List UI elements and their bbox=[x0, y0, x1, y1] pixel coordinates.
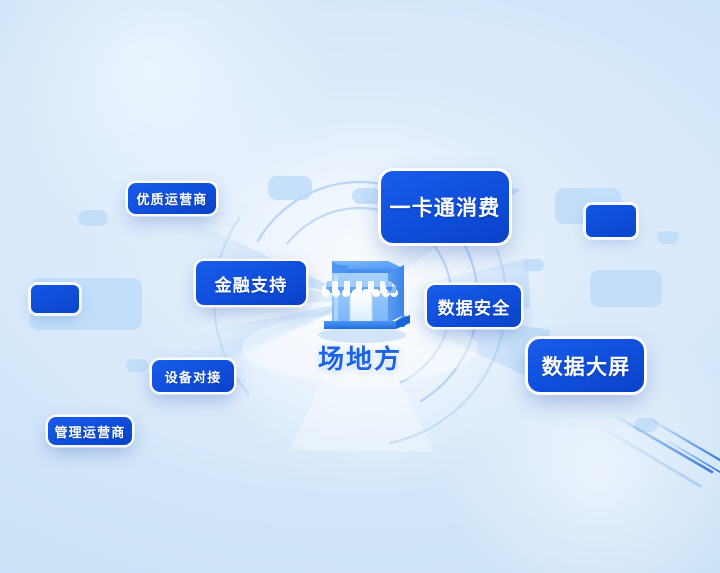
decorative-rect-soft-4 bbox=[555, 188, 621, 224]
decorative-rect-soft-2 bbox=[268, 176, 312, 200]
card-jinrong-zhichi[interactable]: 金融支持 bbox=[196, 261, 306, 305]
card-shuju-anquan[interactable]: 数据安全 bbox=[427, 285, 521, 327]
card-label: 优质运营商 bbox=[136, 189, 207, 208]
center-label: 场地方 bbox=[292, 339, 428, 376]
center-node[interactable]: 场地方 bbox=[292, 243, 428, 383]
card-label: 设备对接 bbox=[165, 367, 222, 386]
card-shebei-duijie[interactable]: 设备对接 bbox=[152, 360, 234, 392]
card-youzhi-yunyingshang[interactable]: 优质运营商 bbox=[128, 183, 216, 214]
decorative-rect-soft-10 bbox=[634, 418, 658, 432]
decorative-rect-soft-5 bbox=[657, 231, 679, 244]
card-shuju-daping[interactable]: 数据大屏 bbox=[528, 339, 644, 392]
card-label: 管理运营商 bbox=[54, 422, 125, 441]
decorative-rect-solid-0 bbox=[31, 285, 79, 313]
card-label: 数据大屏 bbox=[542, 351, 631, 381]
card-yikatong-xiaofei[interactable]: 一卡通消费 bbox=[381, 171, 509, 243]
decorative-rect-soft-1 bbox=[78, 210, 108, 226]
decorative-rect-soft-3 bbox=[352, 188, 382, 204]
decorative-rect-soft-7 bbox=[590, 270, 662, 307]
card-label: 数据安全 bbox=[438, 294, 511, 319]
card-label: 金融支持 bbox=[215, 271, 288, 296]
decorative-rect-solid-1 bbox=[586, 205, 636, 237]
decorative-rect-soft-9 bbox=[126, 359, 148, 372]
storefront-icon bbox=[292, 243, 428, 343]
decorative-rect-soft-0 bbox=[30, 278, 142, 330]
decorative-rect-soft-6 bbox=[524, 259, 544, 271]
card-guanli-yunyingshang[interactable]: 管理运营商 bbox=[48, 417, 132, 445]
card-label: 一卡通消费 bbox=[390, 192, 501, 222]
infographic-canvas: 优质运营商金融支持设备对接管理运营商一卡通消费数据安全数据大屏 bbox=[0, 0, 720, 573]
